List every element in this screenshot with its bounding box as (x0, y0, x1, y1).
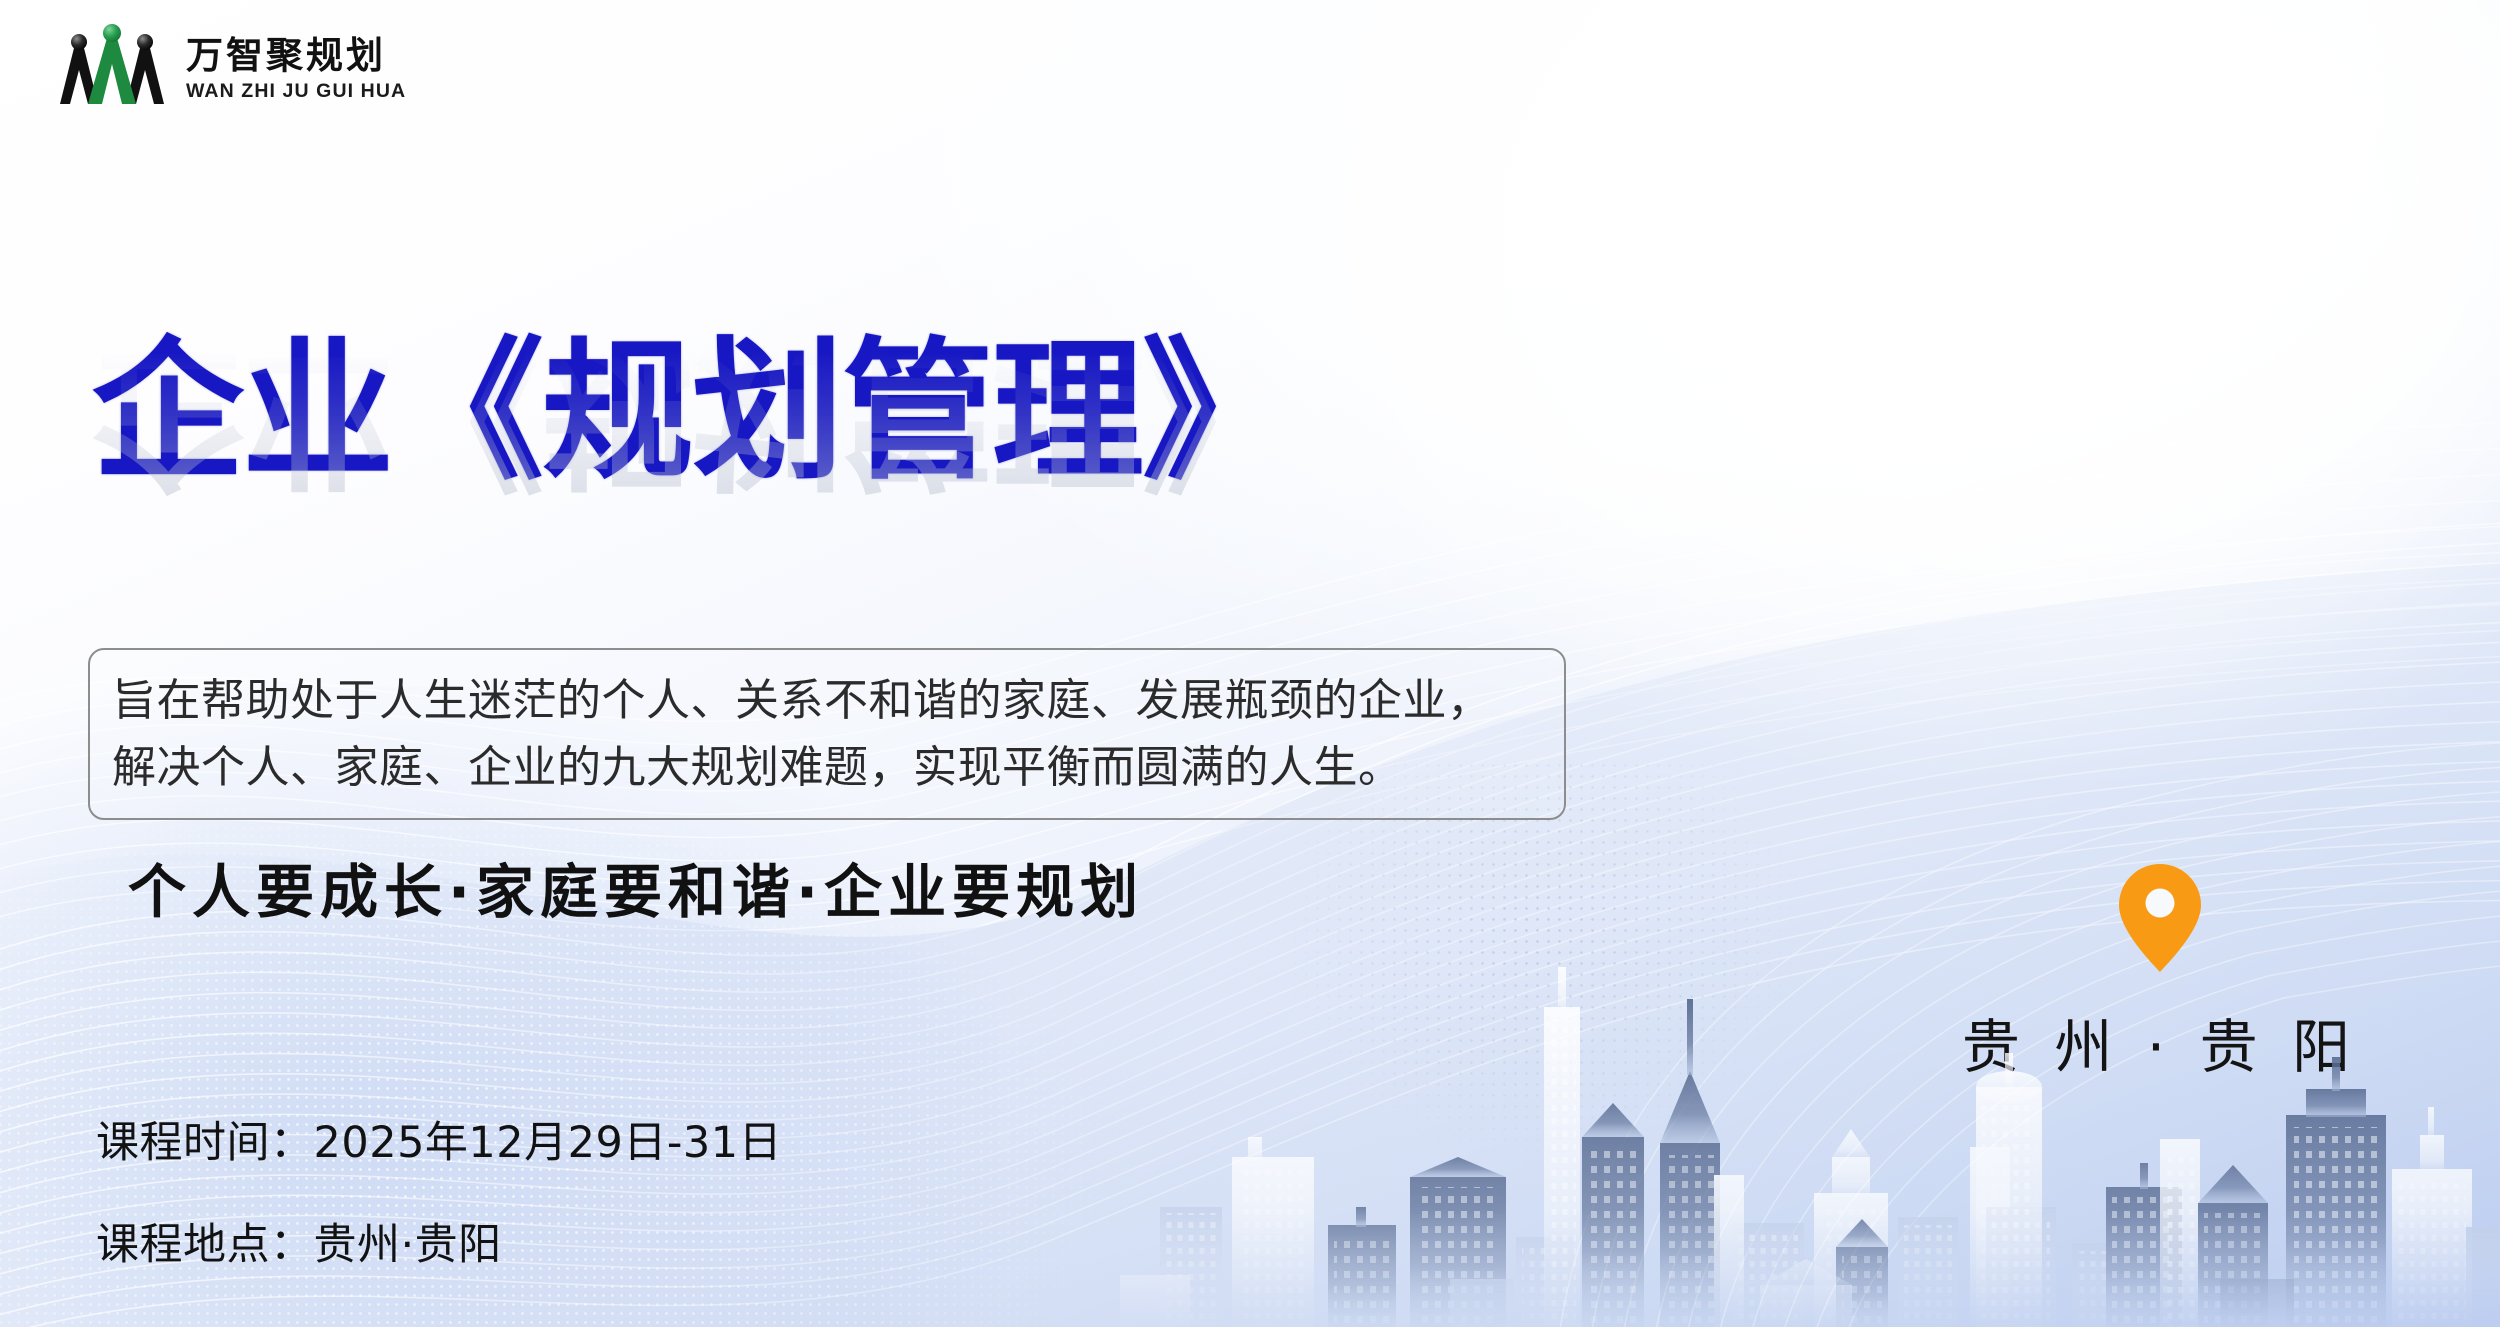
location-label: 贵 州 · 贵 阳 (1950, 1000, 2370, 1084)
poster-canvas: 万智聚规划 WAN ZHI JU GUI HUA 企业《规划管理》 企业《规划管… (0, 0, 2500, 1327)
brand-logo[interactable]: 万智聚规划 WAN ZHI JU GUI HUA (52, 22, 406, 112)
map-pin-icon (2117, 862, 2203, 974)
hero-title-group: 企业《规划管理》 企业《规划管理》 (92, 330, 1292, 662)
brand-name-cn: 万智聚规划 (186, 37, 406, 74)
brand-name-en: WAN ZHI JU GUI HUA (186, 82, 406, 102)
description-line-1: 旨在帮助处于人生迷茫的个人、关系不和谐的家庭、发展瓶颈的企业， (112, 668, 1538, 735)
dot-mesh-secondary-icon (1180, 760, 2080, 1320)
course-info: 课程时间：2025年12月29日-31日 课程地点：贵州·贵阳 (96, 1108, 782, 1272)
course-time: 课程时间：2025年12月29日-31日 (96, 1108, 782, 1170)
location-block: 贵 州 · 贵 阳 (1950, 862, 2370, 1084)
page-title: 企业《规划管理》 (92, 330, 1292, 494)
three-people-logo-icon (52, 22, 172, 112)
slogan-text: 个人要成长·家庭要和谐·企业要规划 (128, 845, 1144, 929)
course-place: 课程地点：贵州·贵阳 (96, 1210, 782, 1272)
description-box: 旨在帮助处于人生迷茫的个人、关系不和谐的家庭、发展瓶颈的企业， 解决个人、家庭、… (88, 648, 1566, 820)
description-line-2: 解决个人、家庭、企业的九大规划难题，实现平衡而圆满的人生。 (112, 735, 1538, 802)
